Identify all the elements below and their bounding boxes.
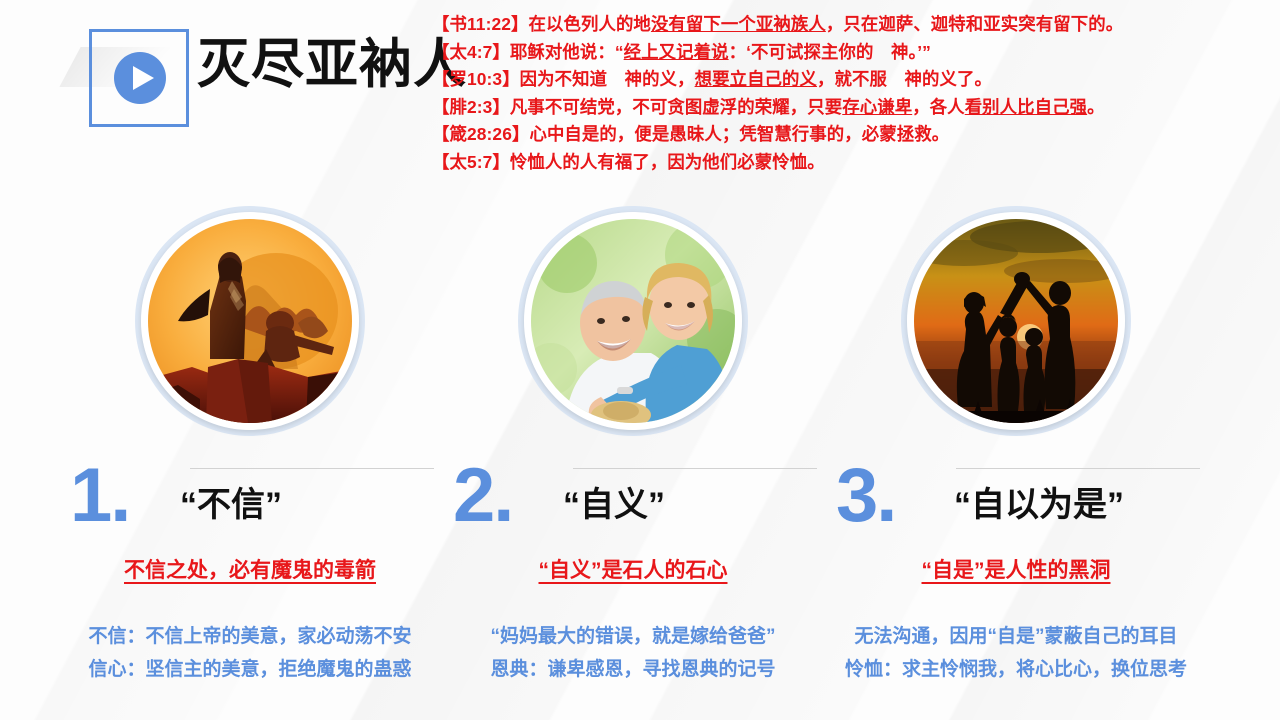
photo-3-wrapper <box>901 206 1131 436</box>
column-2-red-statement: “自义”是石人的石心 <box>443 554 823 584</box>
column-1: 1. “不信” 不信之处，必有魔鬼的毒箭 不信：不信上帝的美意，家必动荡不安 信… <box>60 206 440 686</box>
scripture-block: 【书11:22】在以色列人的地没有留下一个亚衲族人，只在迦萨、迦特和亚实突有留下… <box>432 11 1276 177</box>
page-title: 灭尽亚衲人 <box>197 38 467 91</box>
column-2-heading: 2. “自义” <box>443 462 823 540</box>
content-columns: 1. “不信” 不信之处，必有魔鬼的毒箭 不信：不信上帝的美意，家必动荡不安 信… <box>0 206 1280 720</box>
column-keyword: “自以为是” <box>954 488 1124 522</box>
column-number: 3. <box>836 458 895 534</box>
column-3-red-statement: “自是”是人性的黑洞 <box>826 554 1206 584</box>
heading-rule <box>190 468 434 469</box>
column-2: 2. “自义” “自义”是石人的石心 “妈妈最大的错误，就是嫁给爸爸” 恩典：谦… <box>443 206 823 686</box>
play-button-icon[interactable] <box>114 52 166 104</box>
column-3-body: 无法沟通，因用“自是”蒙蔽自己的耳目 怜恤：求主怜悯我，将心比心，换位思考 <box>826 620 1206 686</box>
body-line: 无法沟通，因用“自是”蒙蔽自己的耳目 <box>826 620 1206 653</box>
body-line: “妈妈最大的错误，就是嫁给爸爸” <box>443 620 823 653</box>
column-3-heading: 3. “自以为是” <box>826 462 1206 540</box>
slide-header: 灭尽亚衲人 【书11:22】在以色列人的地没有留下一个亚衲族人，只在迦萨、迦特和… <box>0 0 1280 200</box>
body-line: 恩典：谦卑感恩，寻找恩典的记号 <box>443 653 823 686</box>
photo-2-wrapper <box>518 206 748 436</box>
smiling-elderly-couple-photo <box>531 219 735 423</box>
body-line: 不信：不信上帝的美意，家必动荡不安 <box>60 620 440 653</box>
scripture-line-2: 【太4:7】耶稣对他说：“经上又记着说：‘不可试探主你的 神。’” <box>432 39 1276 67</box>
scripture-line-6: 【太5:7】怜恤人的人有福了，因为他们必蒙怜恤。 <box>432 149 1276 177</box>
column-1-red-statement: 不信之处，必有魔鬼的毒箭 <box>60 554 440 584</box>
photo-1-wrapper <box>135 206 365 436</box>
column-number: 1. <box>70 458 129 534</box>
body-line: 怜恤：求主怜悯我，将心比心，换位思考 <box>826 653 1206 686</box>
scripture-line-1: 【书11:22】在以色列人的地没有留下一个亚衲族人，只在迦萨、迦特和亚实突有留下… <box>432 11 1276 39</box>
logo-bracket-frame <box>89 29 189 127</box>
column-keyword: “不信” <box>180 488 282 522</box>
scripture-line-5: 【箴28:26】心中自是的，便是愚昧人；凭智慧行事的，必蒙拯救。 <box>432 121 1276 149</box>
body-line: 信心：坚信主的美意，拒绝魔鬼的蛊惑 <box>60 653 440 686</box>
family-silhouette-sunset-photo <box>914 219 1118 423</box>
column-number: 2. <box>453 458 512 534</box>
heading-rule <box>956 468 1200 469</box>
jesus-rebuking-devil-illustration <box>148 219 352 423</box>
column-2-body: “妈妈最大的错误，就是嫁给爸爸” 恩典：谦卑感恩，寻找恩典的记号 <box>443 620 823 686</box>
column-1-heading: 1. “不信” <box>60 462 440 540</box>
scripture-line-3: 【罗10:3】因为不知道 神的义，想要立自己的义，就不服 神的义了。 <box>432 66 1276 94</box>
column-3: 3. “自以为是” “自是”是人性的黑洞 无法沟通，因用“自是”蒙蔽自己的耳目 … <box>826 206 1206 686</box>
scripture-line-4: 【腓2:3】凡事不可结党，不可贪图虚浮的荣耀，只要存心谦卑，各人看别人比自己强。 <box>432 94 1276 122</box>
column-keyword: “自义” <box>563 488 665 522</box>
column-1-body: 不信：不信上帝的美意，家必动荡不安 信心：坚信主的美意，拒绝魔鬼的蛊惑 <box>60 620 440 686</box>
heading-rule <box>573 468 817 469</box>
